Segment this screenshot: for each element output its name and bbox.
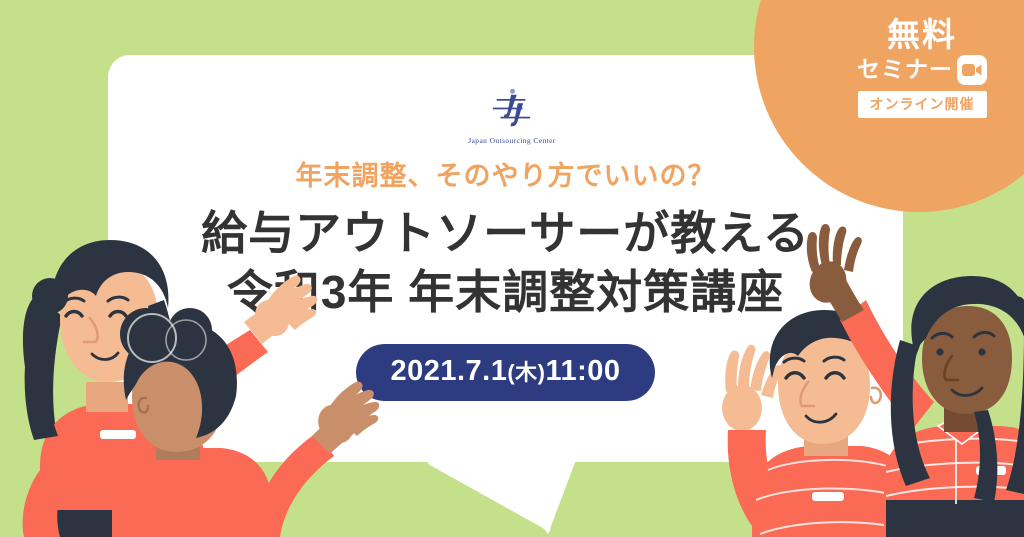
company-name: Japan Outsourcing Center xyxy=(468,136,556,145)
promo-badge: 無料 セミナー オンライン開催 xyxy=(834,18,1010,118)
date-time: 11:00 xyxy=(545,355,620,387)
seminar-row: セミナー xyxy=(857,55,987,85)
free-label: 無料 xyxy=(887,18,957,53)
page-title: 給与アウトソーサーが教える 令和3年 年末調整対策講座 xyxy=(108,204,903,322)
seminar-banner: 無料 セミナー オンライン開催 Japan Outsourcing Center… xyxy=(0,0,1024,537)
speech-bubble-tail xyxy=(428,460,588,536)
date-badge: 2021.7.1(木)11:00 xyxy=(356,344,654,401)
date-dow: (木) xyxy=(507,360,545,385)
joc-monogram-logo xyxy=(484,88,540,132)
kicker-text: 年末調整、そのやり方でいいの？ xyxy=(108,160,903,192)
copy-block: 年末調整、そのやり方でいいの？ 給与アウトソーサーが教える 令和3年 年末調整対… xyxy=(108,160,903,401)
date-value: 2021.7.1 xyxy=(390,355,507,387)
title-line-2: 令和3年 年末調整対策講座 xyxy=(108,263,903,322)
seminar-label: セミナー xyxy=(857,57,953,82)
video-camera-icon xyxy=(957,55,987,85)
title-line-1: 給与アウトソーサーが教える xyxy=(108,204,903,263)
online-label: オンライン開催 xyxy=(858,91,987,118)
